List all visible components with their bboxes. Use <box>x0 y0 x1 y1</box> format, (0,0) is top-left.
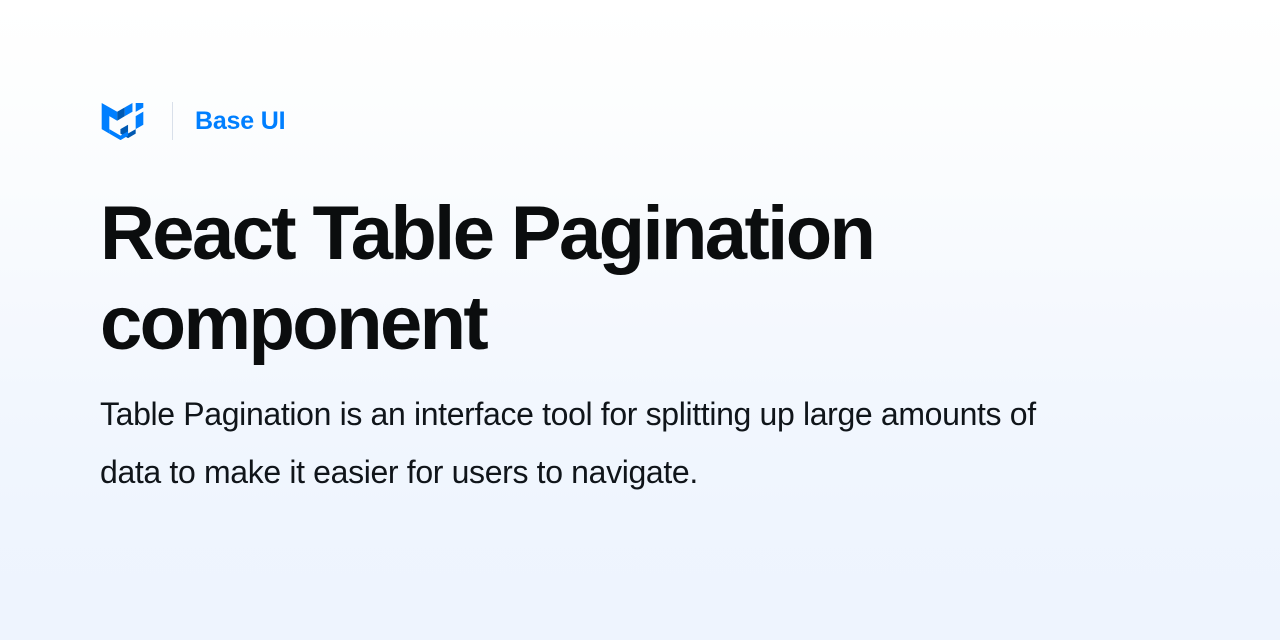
page-title: React Table Pagination component <box>100 189 1110 369</box>
page-description: Table Pagination is an interface tool fo… <box>100 385 1060 501</box>
page-root: Base UI React Table Pagination component… <box>0 0 1280 640</box>
brand-divider <box>172 102 173 140</box>
brand-name-label[interactable]: Base UI <box>195 109 285 134</box>
brand-header[interactable]: Base UI <box>100 99 285 143</box>
mui-logo-icon <box>100 103 145 140</box>
